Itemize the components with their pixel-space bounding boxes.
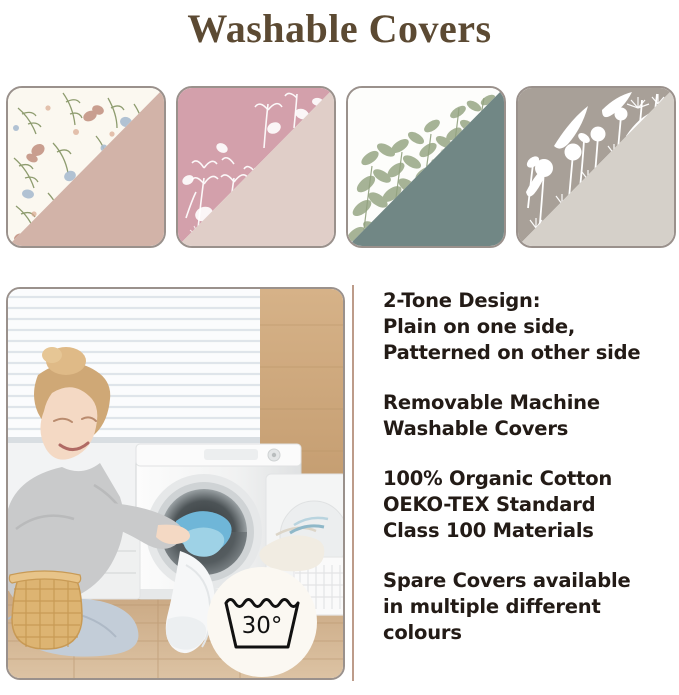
swatch-2-inner: [178, 88, 334, 246]
swatch-3-inner: [348, 88, 504, 246]
feature-list: 2-Tone Design: Plain on one side, Patter…: [383, 288, 673, 646]
feature-item-spare-covers: Spare Covers available in multiple diffe…: [383, 568, 673, 646]
infographic-page: Washable Covers: [0, 0, 679, 695]
swatch-row: [0, 86, 679, 248]
wash-temperature-label: 30°: [242, 613, 283, 639]
page-title: Washable Covers: [0, 5, 679, 52]
lifestyle-photo: 30°: [6, 287, 345, 680]
feature-item-removable-washable: Removable Machine Washable Covers: [383, 390, 673, 442]
vertical-divider: [352, 285, 354, 681]
feature-item-organic-cotton: 100% Organic Cotton OEKO-TEX Standard Cl…: [383, 466, 673, 544]
swatch-sage-leaves-teal[interactable]: [346, 86, 506, 248]
swatch-taupe-wildflower-stone[interactable]: [516, 86, 676, 248]
wash-tub-icon: 30°: [223, 591, 301, 653]
swatch-4-inner: [518, 88, 674, 246]
feature-item-2-tone-design: 2-Tone Design: Plain on one side, Patter…: [383, 288, 673, 366]
swatch-1-inner: [8, 88, 164, 246]
wash-care-badge: 30°: [207, 567, 317, 677]
swatch-floral-cream-rose[interactable]: [6, 86, 166, 248]
swatch-pink-botanical-blush[interactable]: [176, 86, 336, 248]
